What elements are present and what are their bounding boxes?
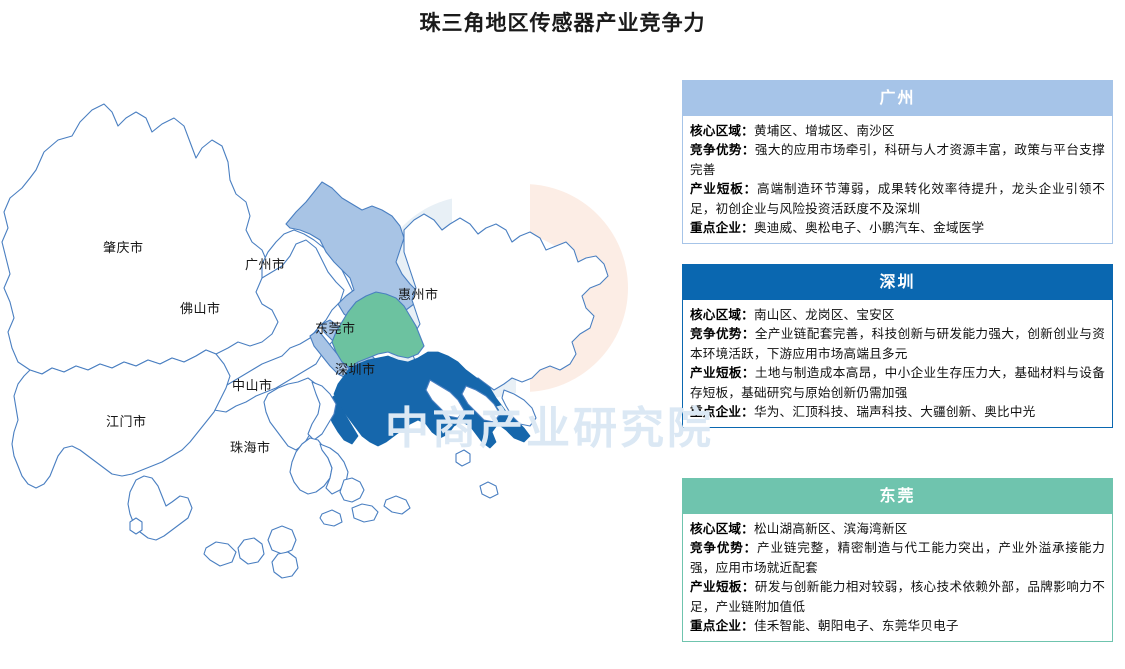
card-row-key-companies: 重点企业：奥迪威、奥松电子、小鹏汽车、金域医学 (690, 218, 1105, 237)
island-6 (268, 526, 296, 554)
island-3 (384, 496, 410, 514)
map-label-zhuhai: 珠海市 (230, 437, 271, 456)
map-label-jiangmen: 江门市 (106, 411, 147, 430)
row-label: 竞争优势： (690, 326, 755, 341)
pearl-river-delta-map (0, 52, 676, 664)
row-label: 竞争优势： (690, 540, 757, 555)
island-1 (320, 510, 342, 526)
map-label-shenzhen: 深圳市 (335, 359, 376, 378)
row-label: 竞争优势： (690, 142, 755, 157)
map-panel: 肇庆市 广州市 佛山市 惠州市 东莞市 深圳市 中山市 江门市 珠海市 (0, 52, 676, 664)
island-4 (204, 542, 236, 566)
row-label: 重点企业： (690, 220, 754, 235)
row-value: 奥迪威、奥松电子、小鹏汽车、金域医学 (754, 220, 984, 235)
card-header-shenzhen: 深圳 (682, 264, 1113, 300)
island-8 (130, 518, 142, 534)
card-body-shenzhen: 核心区域：南山区、龙岗区、宝安区 竞争优势：全产业链配套完善，科技创新与研发能力… (682, 300, 1113, 428)
card-row-advantages: 竞争优势：产业链完整，精密制造与代工能力突出，产业外溢承接能力强，应用市场就近配… (690, 538, 1105, 577)
card-header-dongguan: 东莞 (682, 478, 1113, 514)
card-row-key-companies: 重点企业：佳禾智能、朝阳电子、东莞华贝电子 (690, 616, 1105, 635)
card-row-weaknesses: 产业短板：研发与创新能力相对较弱，核心技术依赖外部，品牌影响力不足，产业链附加值… (690, 577, 1105, 616)
card-shenzhen: 深圳 核心区域：南山区、龙岗区、宝安区 竞争优势：全产业链配套完善，科技创新与研… (682, 264, 1113, 428)
island-9 (480, 482, 498, 498)
map-label-zhongshan: 中山市 (232, 375, 273, 394)
card-row-weaknesses: 产业短板：土地与制造成本高昂，中小企业生存压力大，基础材料与设备存短板，基础研究… (690, 363, 1105, 402)
map-label-dongguan: 东莞市 (315, 318, 356, 337)
card-row-core-area: 核心区域：松山湖高新区、滨海湾新区 (690, 519, 1105, 538)
card-guangzhou: 广州 核心区域：黄埔区、增城区、南沙区 竞争优势：强大的应用市场牵引，科研与人才… (682, 80, 1113, 244)
map-label-foshan: 佛山市 (180, 298, 221, 317)
card-row-core-area: 核心区域：黄埔区、增城区、南沙区 (690, 121, 1105, 140)
row-value: 黄埔区、增城区、南沙区 (754, 123, 895, 138)
island-2 (352, 504, 378, 522)
map-label-zhaoqing: 肇庆市 (103, 237, 144, 256)
row-label: 产业短板： (690, 579, 755, 594)
page-title: 珠三角地区传感器产业竞争力 (0, 8, 1125, 38)
island-7 (272, 552, 298, 578)
row-label: 重点企业： (690, 404, 754, 419)
card-row-advantages: 竞争优势：强大的应用市场牵引，科研与人才资源丰富，政策与平台支撑完善 (690, 140, 1105, 179)
map-label-guangzhou: 广州市 (245, 254, 286, 273)
row-label: 产业短板： (690, 181, 757, 196)
row-value: 南山区、龙岗区、宝安区 (754, 307, 895, 322)
card-row-weaknesses: 产业短板：高端制造环节薄弱，成果转化效率待提升，龙头企业引领不足，初创企业与风险… (690, 179, 1105, 218)
card-body-dongguan: 核心区域：松山湖高新区、滨海湾新区 竞争优势：产业链完整，精密制造与代工能力突出… (682, 514, 1113, 642)
card-header-guangzhou: 广州 (682, 80, 1113, 116)
card-row-advantages: 竞争优势：全产业链配套完善，科技创新与研发能力强大，创新创业与资本环境活跃，下游… (690, 324, 1105, 363)
row-label: 重点企业： (690, 618, 754, 633)
row-label: 产业短板： (690, 365, 755, 380)
island-5 (238, 538, 264, 564)
card-row-key-companies: 重点企业：华为、汇顶科技、瑞声科技、大疆创新、奥比中光 (690, 402, 1105, 421)
map-label-huizhou: 惠州市 (398, 284, 439, 303)
island-10 (456, 450, 470, 466)
row-label: 核心区域： (690, 123, 754, 138)
row-value: 松山湖高新区、滨海湾新区 (754, 521, 908, 536)
card-row-core-area: 核心区域：南山区、龙岗区、宝安区 (690, 305, 1105, 324)
row-value: 佳禾智能、朝阳电子、东莞华贝电子 (754, 618, 959, 633)
card-body-guangzhou: 核心区域：黄埔区、增城区、南沙区 竞争优势：强大的应用市场牵引，科研与人才资源丰… (682, 116, 1113, 244)
row-label: 核心区域： (690, 521, 754, 536)
region-zhuhai-hengqin (340, 478, 364, 502)
row-label: 核心区域： (690, 307, 754, 322)
card-dongguan: 东莞 核心区域：松山湖高新区、滨海湾新区 竞争优势：产业链完整，精密制造与代工能… (682, 478, 1113, 642)
row-value: 华为、汇顶科技、瑞声科技、大疆创新、奥比中光 (754, 404, 1035, 419)
